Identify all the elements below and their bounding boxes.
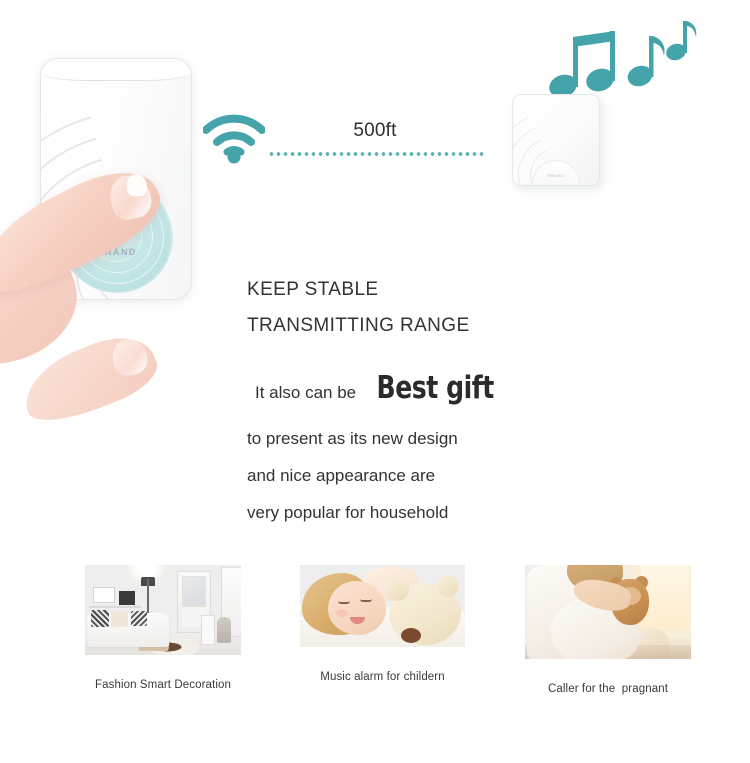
headline-line-2: TRANSMITTING RANGE [247, 308, 577, 344]
gallery-item: Music alarm for childern [300, 565, 465, 683]
wifi-signal-icon [203, 108, 265, 164]
transmission-range-label: 500ft [300, 120, 450, 142]
body-line-2: and nice appearance are [247, 457, 577, 494]
body-copy: to present as its new design and nice ap… [247, 420, 577, 531]
gallery-caption: Caller for the pragnant [525, 683, 691, 695]
receiver-brand-label: BRAND [513, 173, 599, 178]
body-line-3: very popular for household [247, 494, 577, 531]
gift-prefix-text: It also can be [255, 383, 356, 403]
best-gift-line: It also can be Best gift [247, 370, 577, 406]
photo-scandinavian-living-room [85, 565, 241, 655]
gift-emphasis-text: Best gift [377, 370, 494, 406]
product-feature-page: BRAND 500ft [0, 0, 750, 763]
headline-line-1: KEEP STABLE [247, 272, 577, 308]
photo-sleeping-girl-with-teddy [300, 565, 465, 647]
hand-pressing-doorbell [0, 188, 185, 403]
doorbell-receiver-device: BRAND [512, 94, 600, 186]
fingernail-second [109, 336, 150, 378]
marketing-copy-block: KEEP STABLE TRANSMITTING RANGE It also c… [247, 272, 577, 531]
body-line-1: to present as its new design [247, 420, 577, 457]
gallery-caption: Fashion Smart Decoration [85, 679, 241, 691]
fingernail [106, 171, 155, 223]
gallery-caption: Music alarm for childern [300, 671, 465, 683]
gallery-item: Caller for the pragnant [525, 565, 691, 695]
dotted-range-line [268, 152, 484, 156]
photo-pregnant-woman-with-teddy [525, 565, 691, 659]
gallery-item: Fashion Smart Decoration [85, 565, 241, 691]
use-case-gallery: Fashion Smart Decoration Music alarm for… [0, 565, 750, 725]
